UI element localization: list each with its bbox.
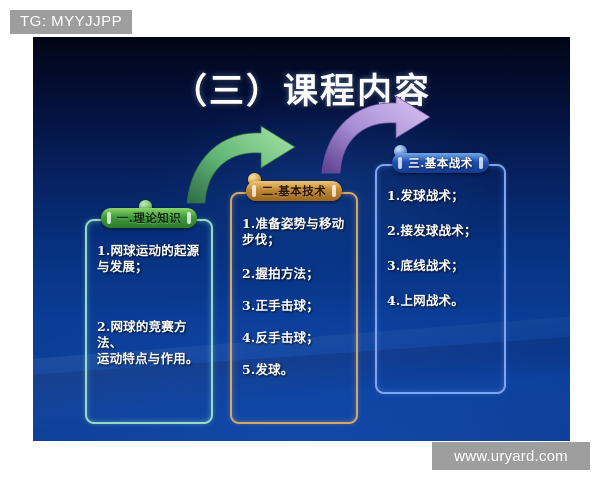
watermark-top-left: TG: MYYJJPP <box>10 10 132 34</box>
panel-technique[interactable]: 二.基本技术 1.准备姿势与移动 步伐； 2.握拍方法； 3.正手击球； 4.反… <box>230 192 358 424</box>
list-item: 3.正手击球； <box>242 298 348 314</box>
screenshot-root: （三）课程内容 <box>0 0 600 480</box>
panel-tactics-body: 1.发球战术； 2.接发球战术； 3.底线战术； 4.上网战术。 <box>377 166 504 333</box>
panel-tactics[interactable]: 三.基本战术 1.发球战术； 2.接发球战术； 3.底线战术； 4.上网战术。 <box>375 164 506 394</box>
panel-theory[interactable]: 一.理论知识 1.网球运动的起源 与发展； 2.网球的竞赛方法、 运动特点与作用… <box>85 219 213 424</box>
slide-title: （三）课程内容 <box>33 63 570 114</box>
panel-technique-body: 1.准备姿势与移动 步伐； 2.握拍方法； 3.正手击球； 4.反手击球； 5.… <box>232 194 356 402</box>
panel-theory-body: 1.网球运动的起源 与发展； 2.网球的竞赛方法、 运动特点与作用。 <box>87 221 211 391</box>
list-item: 2.握拍方法； <box>242 266 348 282</box>
watermark-bottom-right: www.uryard.com <box>432 442 590 470</box>
list-item: 5.发球。 <box>242 362 348 378</box>
list-item: 1.准备姿势与移动 步伐； <box>242 216 348 248</box>
list-item: 4.上网战术。 <box>387 293 496 309</box>
list-item: 1.发球战术； <box>387 188 496 204</box>
list-item: 1.网球运动的起源 与发展； <box>97 243 203 275</box>
list-item: 4.反手击球； <box>242 330 348 346</box>
list-item: 2.接发球战术； <box>387 223 496 239</box>
list-item: 3.底线战术； <box>387 258 496 274</box>
list-item: 2.网球的竞赛方法、 运动特点与作用。 <box>97 319 203 367</box>
presentation-slide: （三）课程内容 <box>33 37 570 441</box>
